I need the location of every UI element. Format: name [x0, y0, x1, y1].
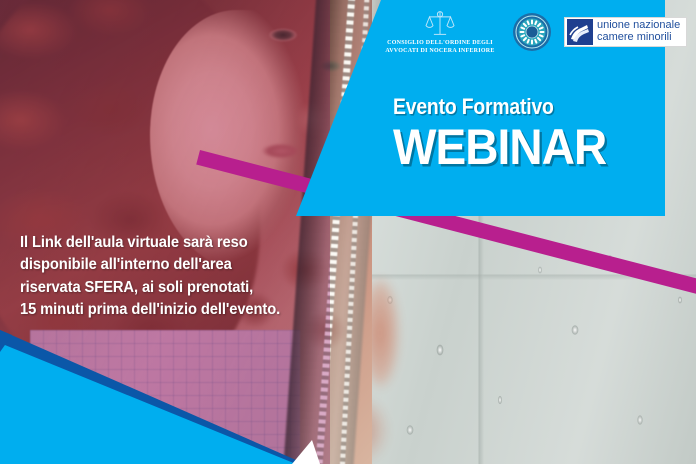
- logo-uncm-line2: camere minorili: [597, 32, 680, 44]
- logo-coa-text: CONSIGLIO DELL'ORDINE DEGLI AVVOCATI DI …: [385, 39, 494, 55]
- circular-seal-icon: [512, 12, 552, 52]
- webinar-poster: CONSIGLIO DELL'ORDINE DEGLI AVVOCATI DI …: [0, 0, 696, 464]
- body-copy-line-3: riservata SFERA, ai soli prenotati,: [20, 277, 296, 299]
- logo-uncm-text: unione nazionale camere minorili: [597, 20, 680, 44]
- logo-unione-nazionale-camere-minorili: unione nazionale camere minorili: [564, 17, 687, 47]
- logo-coa-line1: CONSIGLIO DELL'ORDINE DEGLI: [387, 40, 493, 46]
- scales-of-justice-icon: [425, 9, 455, 37]
- headline-kicker: Evento Formativo: [393, 94, 597, 120]
- body-copy-line-4: 15 minuti prima dell'inizio dell'evento.: [20, 299, 296, 321]
- logo-row: CONSIGLIO DELL'ORDINE DEGLI AVVOCATI DI …: [380, 6, 687, 58]
- body-copy: Il Link dell'aula virtuale sarà reso dis…: [20, 232, 296, 322]
- logo-consiglio-ordine-avvocati: CONSIGLIO DELL'ORDINE DEGLI AVVOCATI DI …: [380, 9, 500, 55]
- body-copy-line-2: disponibile all'interno dell'area: [20, 254, 296, 276]
- logo-coa-line2: AVVOCATI DI NOCERA INFERIORE: [385, 48, 494, 54]
- headline-block: Evento Formativo WEBINAR: [393, 94, 625, 172]
- helping-hands-icon: [567, 19, 593, 45]
- body-copy-line-1: Il Link dell'aula virtuale sarà reso: [20, 232, 296, 254]
- headline-main: WEBINAR: [393, 122, 606, 172]
